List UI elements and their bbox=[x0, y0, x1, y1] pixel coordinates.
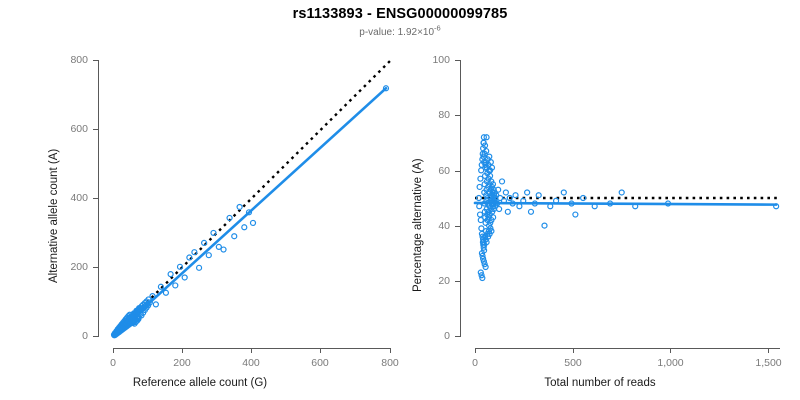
left-x-tick-800 bbox=[390, 348, 391, 353]
right-y-tick-0 bbox=[455, 336, 460, 337]
right-x-axis-line bbox=[475, 348, 780, 349]
right-x-ticklabel-500: 500 bbox=[553, 357, 593, 369]
left-y-tick-200 bbox=[93, 267, 98, 268]
left-y-axis-line bbox=[98, 60, 99, 337]
left-x-tick-400 bbox=[251, 348, 252, 353]
right-y-ticklabel-40: 40 bbox=[405, 220, 450, 232]
right-plot-svg bbox=[475, 60, 780, 336]
right-x-tick-1500 bbox=[768, 348, 769, 353]
figure-root: rs1133893 - ENSG00000099785 p-value: 1.9… bbox=[0, 0, 800, 400]
left-plot-area bbox=[113, 60, 391, 336]
right-x-ticklabel-1500: 1,500 bbox=[746, 357, 791, 369]
right-y-ticklabel-100: 100 bbox=[405, 54, 450, 66]
left-plot-svg bbox=[113, 60, 391, 336]
right-y-tick-40 bbox=[455, 226, 460, 227]
left-x-ticklabel-600: 600 bbox=[300, 357, 340, 369]
right-x-ticklabel-0: 0 bbox=[455, 357, 495, 369]
right-y-ticklabel-60: 60 bbox=[405, 165, 450, 177]
left-y-tick-800 bbox=[93, 60, 98, 61]
left-y-tick-400 bbox=[93, 198, 98, 199]
left-y-ticklabel-400: 400 bbox=[43, 192, 88, 204]
right-x-tick-0 bbox=[475, 348, 476, 353]
right-y-tick-100 bbox=[455, 60, 460, 61]
left-y-tick-600 bbox=[93, 129, 98, 130]
left-x-ticklabel-400: 400 bbox=[231, 357, 271, 369]
left-x-tick-600 bbox=[320, 348, 321, 353]
left-x-ticklabel-200: 200 bbox=[162, 357, 202, 369]
left-y-ticklabel-0: 0 bbox=[43, 330, 88, 342]
right-scatter-points bbox=[476, 135, 778, 281]
left-y-tick-0 bbox=[93, 336, 98, 337]
right-y-axis-line bbox=[460, 60, 461, 337]
right-y-tick-60 bbox=[455, 171, 460, 172]
right-y-tick-20 bbox=[455, 281, 460, 282]
left-x-axis-line bbox=[113, 348, 391, 349]
left-x-tick-0 bbox=[113, 348, 114, 353]
right-x-tick-500 bbox=[573, 348, 574, 353]
right-x-ticklabel-1000: 1,000 bbox=[648, 357, 693, 369]
right-plot-area bbox=[475, 60, 780, 336]
panel-right: Percentage alternative (A) 0 20 40 60 80… bbox=[400, 0, 800, 400]
left-x-axis-title: Reference allele count (G) bbox=[0, 377, 400, 389]
right-y-ticklabel-0: 0 bbox=[405, 330, 450, 342]
right-y-ticklabel-20: 20 bbox=[405, 275, 450, 287]
right-y-tick-80 bbox=[455, 115, 460, 116]
right-x-axis-title: Total number of reads bbox=[400, 377, 800, 389]
right-y-ticklabel-80: 80 bbox=[405, 109, 450, 121]
panel-left: Alternative allele count (A) 0 200 400 6… bbox=[0, 0, 400, 400]
left-y-ticklabel-200: 200 bbox=[43, 261, 88, 273]
left-y-ticklabel-800: 800 bbox=[43, 54, 88, 66]
right-x-tick-1000 bbox=[670, 348, 671, 353]
left-y-ticklabel-600: 600 bbox=[43, 123, 88, 135]
left-x-ticklabel-0: 0 bbox=[93, 357, 133, 369]
left-x-tick-200 bbox=[182, 348, 183, 353]
